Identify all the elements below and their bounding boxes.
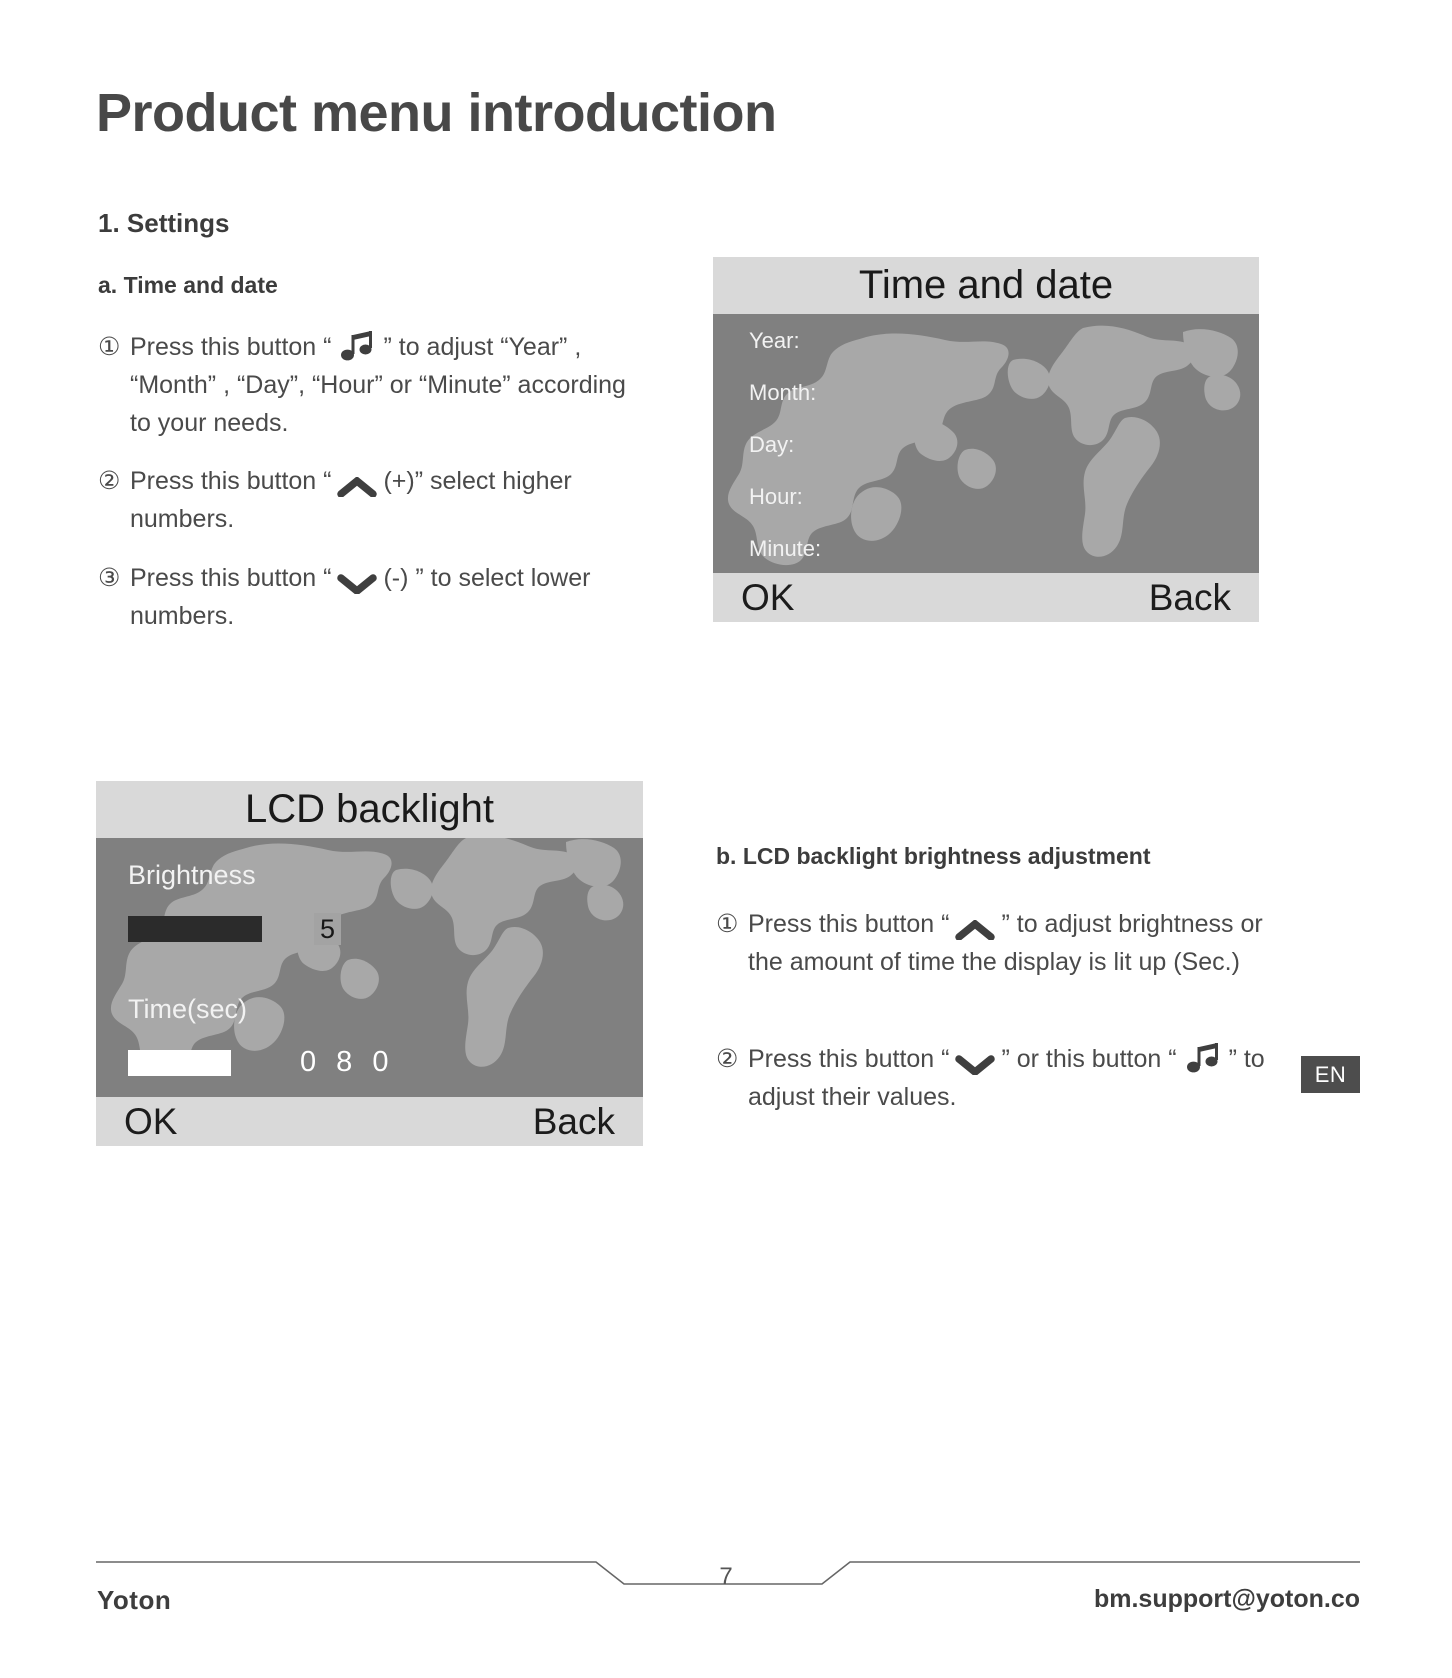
lcd-label-minute: Minute: xyxy=(749,536,821,562)
lcd-title-backlight: LCD backlight xyxy=(96,781,643,838)
instruction-text-before: Press this button “ xyxy=(748,1045,949,1073)
instruction-text-before: Press this button “ xyxy=(130,333,331,361)
instruction-body: Press this button “(+)” select higher nu… xyxy=(130,462,638,538)
lcd-footer-backlight: OK Back xyxy=(96,1097,643,1146)
time-progress-bar[interactable] xyxy=(128,1050,231,1076)
page-title: Product menu introduction xyxy=(96,82,776,144)
instruction-text-mid: ” or this button “ xyxy=(1001,1045,1176,1073)
instruction-text-before: Press this button “ xyxy=(130,564,331,592)
lcd-body-time-and-date: Year: Month: Day: Hour: Minute: xyxy=(713,314,1259,573)
chevron-up-icon xyxy=(955,913,995,933)
instruction-text-before: Press this button “ xyxy=(748,910,949,938)
lcd-back-button[interactable]: Back xyxy=(533,1097,615,1146)
instruction-text-before: Press this button “ xyxy=(130,467,331,495)
lcd-ok-button[interactable]: OK xyxy=(741,573,794,622)
lcd-screen-time-and-date: Time and date Year: Month: Day: Hour: Mi… xyxy=(713,257,1259,622)
lcd-label-year: Year: xyxy=(749,328,800,354)
lcd-label-brightness: Brightness xyxy=(128,860,256,891)
instruction-marker: ③ xyxy=(98,559,120,597)
chevron-up-icon xyxy=(337,470,377,490)
instruction-marker: ① xyxy=(716,905,738,943)
lcd-back-button[interactable]: Back xyxy=(1149,573,1231,622)
lcd-footer-time-and-date: OK Back xyxy=(713,573,1259,622)
section-heading-settings: 1. Settings xyxy=(98,208,229,239)
instruction-body: Press this button “” to adjust brightnes… xyxy=(748,905,1276,981)
lcd-title-time-and-date: Time and date xyxy=(713,257,1259,314)
lcd-body-backlight: Brightness 5 Time(sec) 0 8 0 xyxy=(96,838,643,1097)
music-note-icon xyxy=(337,329,377,363)
chevron-down-icon xyxy=(955,1048,995,1068)
lcd-ok-button[interactable]: OK xyxy=(124,1097,177,1146)
instruction-b-2: ② Press this button “” or this button “”… xyxy=(716,1040,1296,1116)
lcd-label-time-sec: Time(sec) xyxy=(128,994,247,1025)
chevron-down-icon xyxy=(337,567,377,587)
footer-email[interactable]: bm.support@yoton.co xyxy=(1094,1585,1360,1614)
lcd-label-month: Month: xyxy=(749,380,816,406)
instruction-body: Press this button “” to adjust “Year” , … xyxy=(130,328,638,442)
sub-heading-backlight-adjustment: b. LCD backlight brightness adjustment xyxy=(716,843,1150,870)
lcd-screen-backlight: LCD backlight Brightness 5 Time(sec) 0 8… xyxy=(96,781,643,1146)
instruction-marker: ② xyxy=(716,1040,738,1078)
music-note-icon xyxy=(1183,1041,1223,1075)
lcd-label-day: Day: xyxy=(749,432,794,458)
footer-brand: Yoton xyxy=(97,1585,171,1616)
instruction-a-2: ② Press this button “(+)” select higher … xyxy=(98,462,638,538)
instruction-b-1: ① Press this button “” to adjust brightn… xyxy=(716,905,1276,981)
time-value: 0 8 0 xyxy=(300,1046,395,1079)
brightness-progress-bar[interactable] xyxy=(128,916,262,942)
instruction-body: Press this button “(-) ” to select lower… xyxy=(130,559,638,635)
language-badge-en[interactable]: EN xyxy=(1301,1056,1360,1093)
lcd-label-hour: Hour: xyxy=(749,484,803,510)
instruction-marker: ① xyxy=(98,328,120,366)
instruction-a-1: ① Press this button “” to adjust “Year” … xyxy=(98,328,638,442)
instruction-marker: ② xyxy=(98,462,120,500)
instruction-body: Press this button “” or this button “” t… xyxy=(748,1040,1296,1116)
brightness-value: 5 xyxy=(314,913,341,945)
sub-heading-time-and-date: a. Time and date xyxy=(98,272,278,299)
instruction-a-3: ③ Press this button “(-) ” to select low… xyxy=(98,559,638,635)
